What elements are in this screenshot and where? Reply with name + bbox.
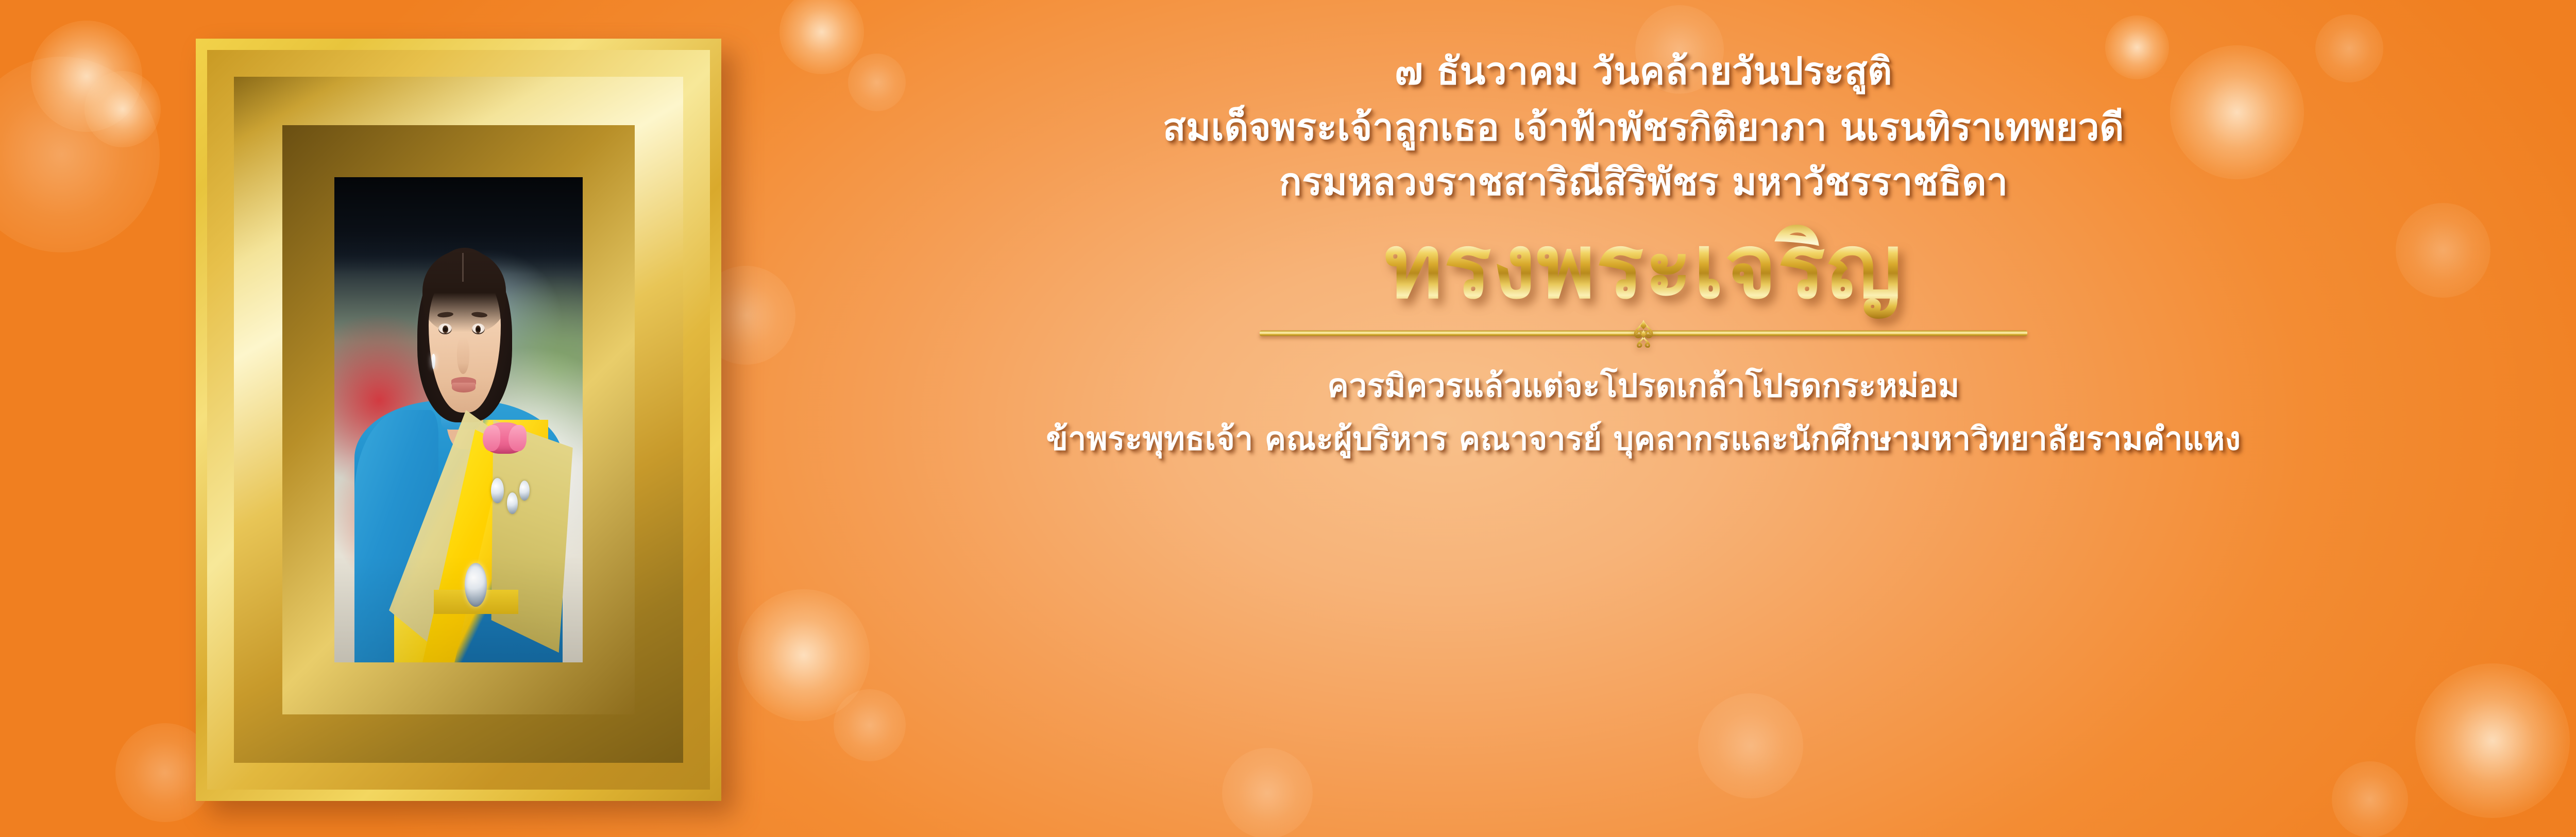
portrait-royal-star-badge bbox=[465, 563, 487, 607]
portrait-pink-bow-decoration bbox=[483, 422, 526, 454]
frame-middle-band bbox=[207, 50, 710, 790]
portrait-medal-2 bbox=[507, 492, 518, 514]
portrait-hair-front bbox=[422, 250, 505, 332]
birthday-date-line: ๗ ธันวาคม วันคล้ายวันประสูติ bbox=[1395, 47, 1892, 95]
frame-inner-liner bbox=[282, 125, 635, 714]
royal-portrait-photo bbox=[334, 177, 583, 662]
bokeh-light-0 bbox=[31, 21, 142, 132]
frame-outer-edge bbox=[196, 39, 721, 801]
birthday-tribute-banner: ๗ ธันวาคม วันคล้ายวันประสูติ สมเด็จพระเจ… bbox=[0, 0, 2576, 837]
long-live-heading-wrap: ทรงพระเจริญ bbox=[1384, 211, 1903, 322]
tribute-text-block: ๗ ธันวาคม วันคล้ายวันประสูติ สมเด็จพระเจ… bbox=[762, 0, 2524, 837]
royal-name-line-1: สมเด็จพระเจ้าลูกเธอ เจ้าฟ้าพัชรกิติยาภา … bbox=[1163, 104, 2124, 151]
gold-divider bbox=[1260, 319, 2027, 348]
frame-bevel bbox=[234, 77, 683, 763]
long-live-heading: ทรงพระเจริญ bbox=[1384, 211, 1903, 322]
bokeh-light-1 bbox=[84, 71, 161, 147]
fleur-scroll-ornament-icon bbox=[1613, 319, 1674, 348]
portrait-lower-lip bbox=[452, 383, 476, 392]
signature-line: ข้าพระพุทธเจ้า คณะผู้บริหาร คณาจารย์ บุค… bbox=[1046, 418, 2241, 460]
royal-portrait-frame bbox=[196, 39, 721, 801]
portrait-iris-left bbox=[443, 326, 448, 333]
portrait-hair-part bbox=[462, 253, 464, 282]
portrait-medal-1 bbox=[491, 478, 504, 503]
royal-name-line-2: กรมหลวงราชสาริณีสิริพัชร มหาวัชรราชธิดา bbox=[1279, 158, 2008, 206]
bokeh-light-2 bbox=[0, 57, 160, 252]
portrait-nose bbox=[457, 337, 469, 374]
closing-line: ควรมิควรแล้วแต่จะโปรดเกล้าโปรดกระหม่อม bbox=[1327, 365, 1959, 407]
